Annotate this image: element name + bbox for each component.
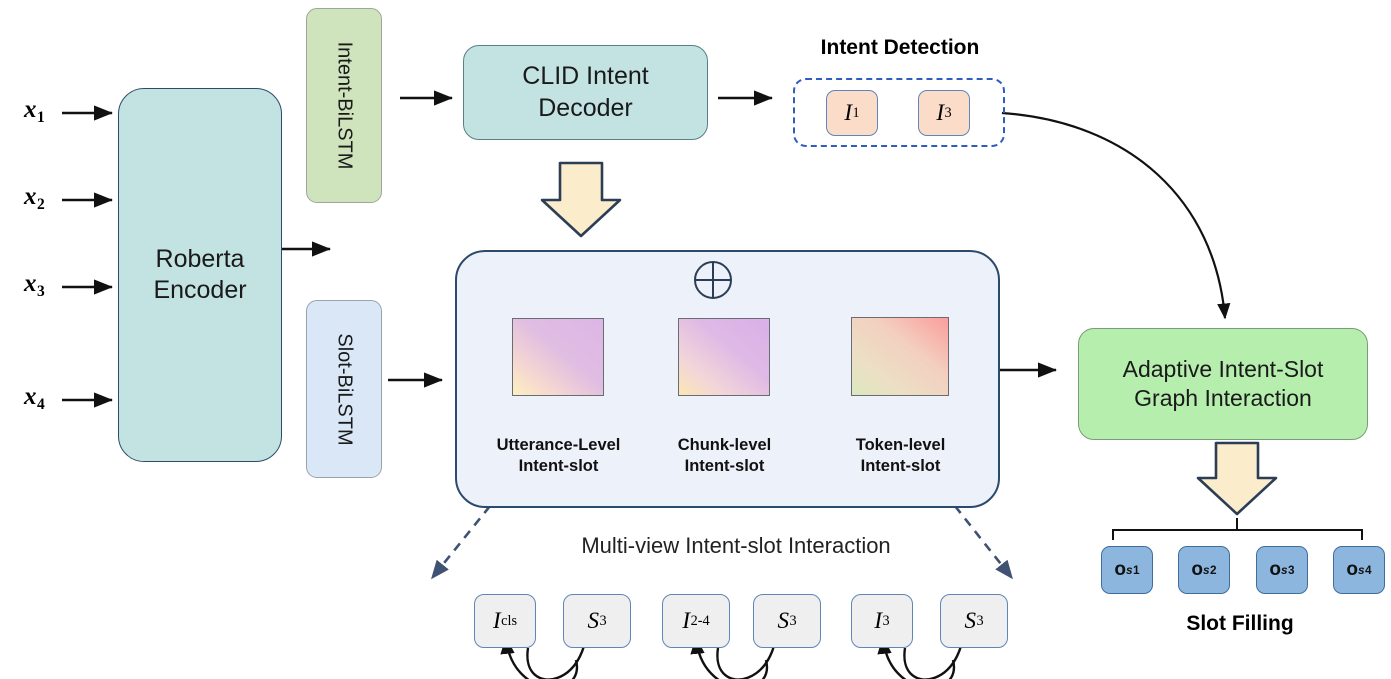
interaction-pair-3-slot: S3 [940, 594, 1008, 648]
input-label-x3: x3 [24, 270, 45, 301]
chunk-level-label: Chunk-level Intent-slot [642, 435, 807, 478]
slot-output-chip-4: os4 [1333, 546, 1385, 594]
interaction-pair-1-intent: Icls [474, 594, 536, 648]
roberta-encoder-block: Roberta Encoder [118, 88, 282, 462]
input-label-x1: x1 [24, 96, 45, 127]
adaptive-graph-line2: Graph Interaction [1134, 384, 1312, 413]
decoder-down-block-arrow [542, 163, 620, 236]
graph-down-block-arrow [1198, 443, 1276, 514]
clid-decoder-line1: CLID Intent [522, 61, 648, 92]
input-label-x2: x2 [24, 183, 45, 214]
utterance-level-feature-map [512, 318, 604, 396]
slot-output-chip-2: os2 [1178, 546, 1230, 594]
intent-chip-1: I1 [826, 90, 878, 136]
roberta-encoder-line2: Encoder [153, 275, 246, 306]
slot-output-chip-3: os3 [1256, 546, 1308, 594]
interaction-pair-1-slot: S3 [563, 594, 631, 648]
intent-detection-heading: Intent Detection [790, 36, 1010, 60]
token-level-feature-map [851, 317, 949, 396]
clid-intent-decoder-block: CLID Intent Decoder [463, 45, 708, 140]
slot-filling-heading: Slot Filling [1130, 612, 1350, 636]
architecture-diagram: x1 x2 x3 x4 Roberta Encoder Intent-BiLST… [0, 0, 1391, 679]
adaptive-graph-line1: Adaptive Intent-Slot [1123, 355, 1324, 384]
adaptive-graph-interaction-block: Adaptive Intent-Slot Graph Interaction [1078, 328, 1368, 440]
interaction-pair-2-slot: S3 [753, 594, 821, 648]
detection-to-graph-curve [1002, 113, 1225, 318]
token-level-label: Token-level Intent-slot [818, 435, 983, 478]
slot-filling-bracket [1113, 530, 1362, 540]
chunk-level-feature-map [678, 318, 770, 396]
input-arrows [62, 113, 112, 400]
multiview-expand-left-arrow [432, 506, 490, 578]
roberta-encoder-line1: Roberta [156, 244, 245, 275]
intent-bilstm-block: Intent-BiLSTM [306, 8, 382, 203]
interaction-pair-2-intent: I2-4 [662, 594, 730, 648]
utterance-level-label: Utterance-Level Intent-slot [476, 435, 641, 478]
circled-plus-icon [691, 258, 735, 302]
input-label-x4: x4 [24, 383, 45, 414]
slot-bilstm-label: Slot-BiLSTM [332, 333, 357, 445]
clid-decoder-line2: Decoder [538, 93, 633, 124]
multiview-expand-right-arrow [955, 506, 1012, 578]
intent-bilstm-label: Intent-BiLSTM [332, 42, 357, 170]
interaction-pair-3-intent: I3 [851, 594, 913, 648]
intent-chip-2: I3 [918, 90, 970, 136]
slot-bilstm-block: Slot-BiLSTM [306, 300, 382, 478]
slot-output-chip-1: os1 [1101, 546, 1153, 594]
intent-detection-group [793, 78, 1005, 147]
multiview-caption: Multi-view Intent-slot Interaction [516, 533, 956, 559]
